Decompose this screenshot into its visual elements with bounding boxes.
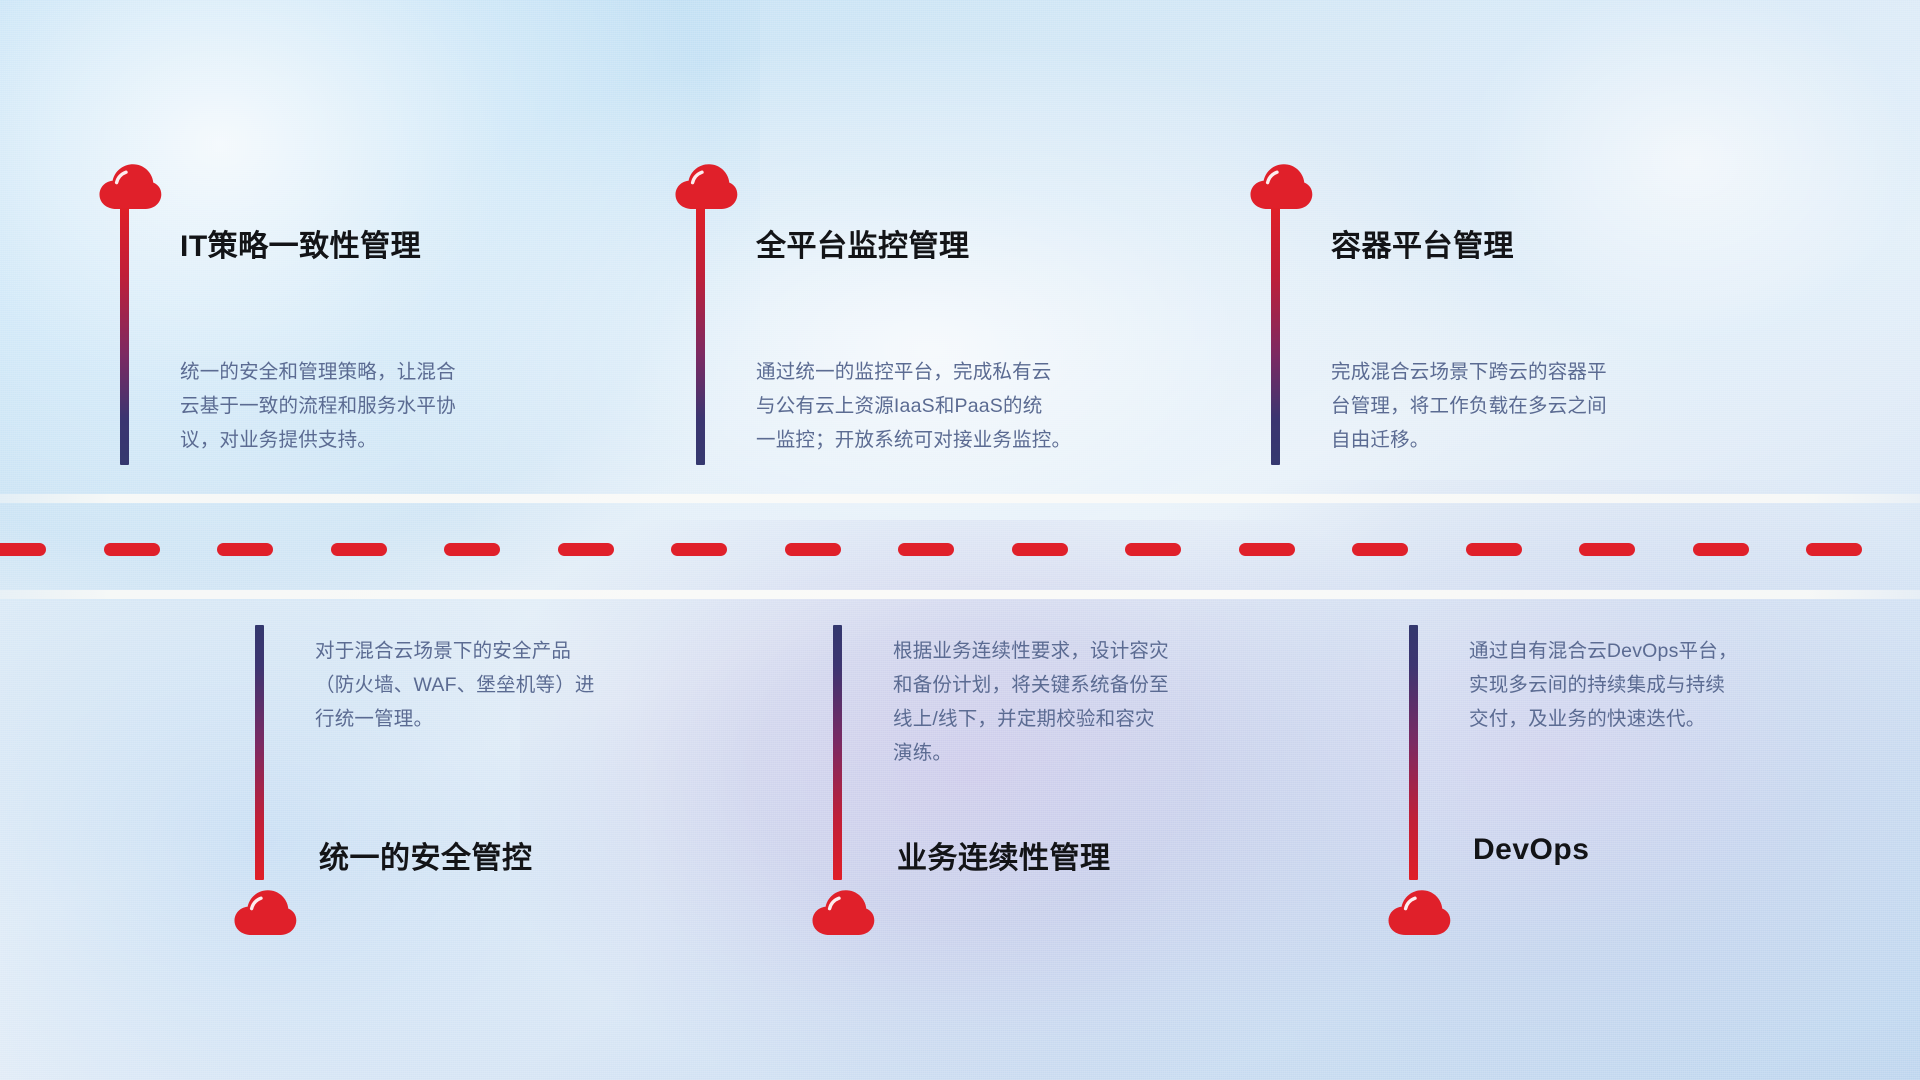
separator-bar-lower [0,590,1920,599]
body-line: 交付，及业务的快速迭代。 [1469,702,1738,736]
card-title: 容器平台管理 [1331,221,1514,265]
body-line: 演练。 [893,736,1169,770]
body-line: 根据业务连续性要求，设计容灾 [893,634,1169,668]
card-body: 对于混合云场景下的安全产品 （防火墙、WAF、堡垒机等）进 行统一管理。 [315,634,595,736]
body-line: （防火墙、WAF、堡垒机等）进 [315,668,595,702]
dash-segment [1466,543,1522,556]
body-line: 议，对业务提供支持。 [180,423,456,457]
cloud-icon [98,163,162,211]
body-line: 完成混合云场景下跨云的容器平 [1331,355,1607,389]
body-line: 云基于一致的流程和服务水平协 [180,389,456,423]
card-body: 统一的安全和管理策略，让混合 云基于一致的流程和服务水平协 议，对业务提供支持。 [180,355,456,457]
dash-segment [898,543,954,556]
connector-bar [1409,625,1418,880]
card-title: 全平台监控管理 [756,221,970,265]
dash-segment [1239,543,1295,556]
dash-segment [217,543,273,556]
connector-bar [1271,208,1280,465]
dash-segment [331,543,387,556]
dash-segment [1806,543,1862,556]
card-title: 统一的安全管控 [319,833,533,877]
infographic-canvas: IT策略一致性管理 统一的安全和管理策略，让混合 云基于一致的流程和服务水平协 … [0,0,1920,1080]
body-line: 通过自有混合云DevOps平台， [1469,634,1738,668]
dash-segment [1352,543,1408,556]
card-title: IT策略一致性管理 [180,221,421,265]
dash-segment [444,543,500,556]
dash-segment [1012,543,1068,556]
connector-bar [696,208,705,465]
cloud-icon [811,889,875,937]
card-body: 根据业务连续性要求，设计容灾 和备份计划，将关键系统备份至 线上/线下，并定期校… [893,634,1169,770]
connector-bar [833,625,842,880]
body-line: 和备份计划，将关键系统备份至 [893,668,1169,702]
body-line: 实现多云间的持续集成与持续 [1469,668,1738,702]
dash-segment [1125,543,1181,556]
card-title: DevOps [1473,833,1589,867]
body-line: 统一的安全和管理策略，让混合 [180,355,456,389]
cloud-icon [1387,889,1451,937]
dash-segment [1693,543,1749,556]
body-line: 台管理，将工作负载在多云之间 [1331,389,1607,423]
dash-segment [0,543,46,556]
dash-segment [558,543,614,556]
card-body: 通过统一的监控平台，完成私有云 与公有云上资源IaaS和PaaS的统 一监控；开… [756,355,1071,457]
cloud-icon [233,889,297,937]
body-line: 与公有云上资源IaaS和PaaS的统 [756,389,1071,423]
body-line: 自由迁移。 [1331,423,1607,457]
body-line: 一监控；开放系统可对接业务监控。 [756,423,1071,457]
separator-bar-upper [0,494,1920,503]
body-line: 行统一管理。 [315,702,595,736]
body-line: 对于混合云场景下的安全产品 [315,634,595,668]
dash-segment [1579,543,1635,556]
connector-bar [255,625,264,880]
dash-segment [104,543,160,556]
body-line: 通过统一的监控平台，完成私有云 [756,355,1071,389]
card-title: 业务连续性管理 [897,833,1111,877]
cloud-icon [1249,163,1313,211]
connector-bar [120,208,129,465]
dash-segment [671,543,727,556]
dash-segment [785,543,841,556]
dashed-divider [0,543,1920,556]
card-body: 完成混合云场景下跨云的容器平 台管理，将工作负载在多云之间 自由迁移。 [1331,355,1607,457]
cloud-icon [674,163,738,211]
card-body: 通过自有混合云DevOps平台， 实现多云间的持续集成与持续 交付，及业务的快速… [1469,634,1738,736]
body-line: 线上/线下，并定期校验和容灾 [893,702,1169,736]
